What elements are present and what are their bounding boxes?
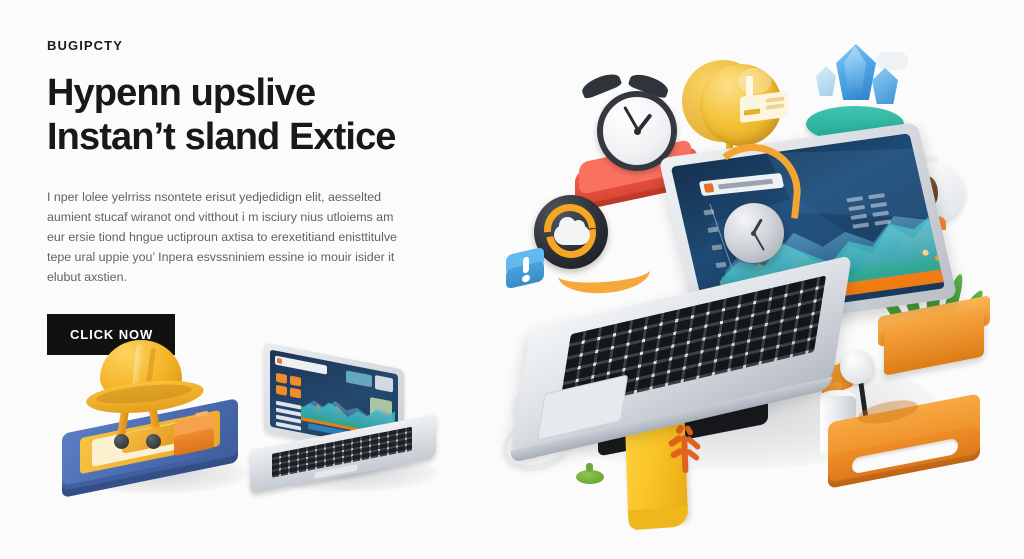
headline-line-2: Instan’t sland Extice [47,115,467,159]
chart-dot [921,249,928,256]
hero-page: BUGIPCTY Hypenn upslive Instan’t sland E… [0,0,1024,559]
body-line: I nper lolee yelrriss nsontete erisut ye… [47,187,447,207]
main-illustration-scene [480,20,1024,550]
body-line: eur ersie tiond hngue uctiproun axtisa t… [47,227,447,247]
small-screen-toolbar [275,356,327,375]
legend-swatch [874,219,891,225]
stand-wheel-right [146,434,161,449]
hard-hat-illustration [58,340,258,500]
legend-swatch [852,223,869,229]
legend-swatch [872,211,889,217]
body-line: aumient stucaf wiranot ond vitthout i m … [47,207,447,227]
small-laptop-illustration [250,356,440,496]
small-screen-chip-b [375,375,393,392]
small-screen-sidebar [275,373,303,425]
crystal-small-right [872,68,898,104]
legend-swatch [850,214,867,220]
body-paragraph: I nper lolee yelrriss nsontete erisut ye… [47,187,447,287]
body-line: elubut axstien. [47,267,447,287]
cloud-puff [876,52,908,70]
coin-emblem-card [740,91,788,123]
sidebar-tile [290,387,301,398]
chart-y-tick [716,262,727,268]
legend-swatch [870,202,887,208]
legend-swatch [846,196,863,202]
small-screen-chip-a [346,370,372,387]
body-line: tepe ural uppie you’ Inpera esvssniniem … [47,247,447,267]
coin-gloss-highlight [738,68,772,94]
sidebar-tile [276,385,287,396]
laptop-base [510,255,852,457]
orange-crate-icon [174,418,218,456]
eyebrow-label: BUGIPCTY [47,38,467,54]
headline-line-1: Hypenn upslive [47,71,467,115]
magnifier-clock-orb [724,203,784,263]
crystal-small-left [816,66,836,96]
clock-center-pin [634,128,641,135]
stand-wheel-left [114,434,129,449]
sidebar-tile [290,375,301,386]
green-disc-icon [576,470,604,484]
hero-copy-column: BUGIPCTY Hypenn upslive Instan’t sland E… [47,38,467,355]
hard-hat-icon [86,340,204,416]
chart-y-tick [707,227,718,233]
orb-center-pin [751,231,756,236]
main-laptop-illustration [510,138,950,438]
legend-swatch [848,205,865,211]
page-title: Hypenn upslive Instan’t sland Extice [47,71,467,160]
sidebar-tile [276,373,287,384]
chart-dot [934,254,941,261]
chart-legend [846,190,916,243]
legend-swatch [868,193,885,199]
chart-y-tick [711,244,722,250]
